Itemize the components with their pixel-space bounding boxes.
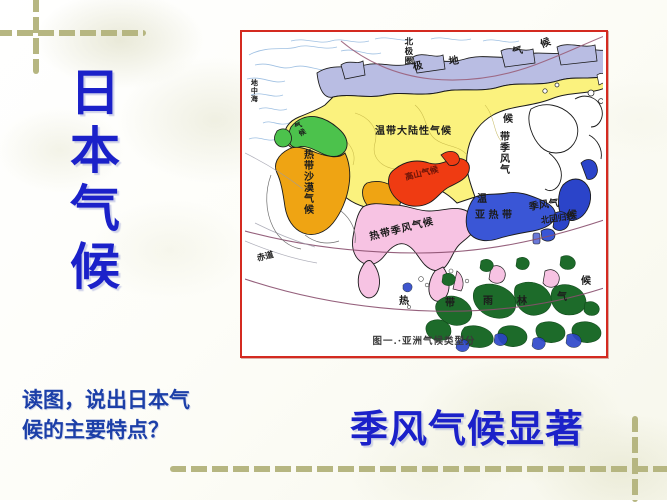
decor-line-top-vertical <box>33 0 39 74</box>
title-char-1: 日 <box>56 64 134 122</box>
decor-line-top-horizontal <box>0 30 146 36</box>
question-line-2: 候的主要特点？ <box>22 415 252 445</box>
page-title: 日 本 气 候 <box>56 64 134 296</box>
map-caption: 图一.·亚洲气候类型分 <box>245 333 603 347</box>
title-char-3: 气 <box>56 180 134 238</box>
answer-text: 季风气候显著 <box>350 398 584 453</box>
decor-line-bottom-horizontal <box>170 466 667 472</box>
map-figure-frame: 北极圈 极 地 气 候 温带大陆性气候 地中海 气候 热带沙漠气候 高山气候 热… <box>240 30 608 358</box>
question-text: 读图，说出日本气 候的主要特点？ <box>22 385 252 445</box>
title-char-2: 本 <box>56 122 134 180</box>
asia-climate-map <box>245 35 603 353</box>
question-line-1: 读图，说出日本气 <box>22 385 252 415</box>
slide-canvas: 日 本 气 候 读图，说出日本气 候的主要特点？ 季风气候显著 <box>0 0 667 500</box>
title-char-4: 候 <box>56 238 134 296</box>
map-canvas: 北极圈 极 地 气 候 温带大陆性气候 地中海 气候 热带沙漠气候 高山气候 热… <box>245 35 603 353</box>
decor-line-bottom-vertical <box>632 416 638 502</box>
